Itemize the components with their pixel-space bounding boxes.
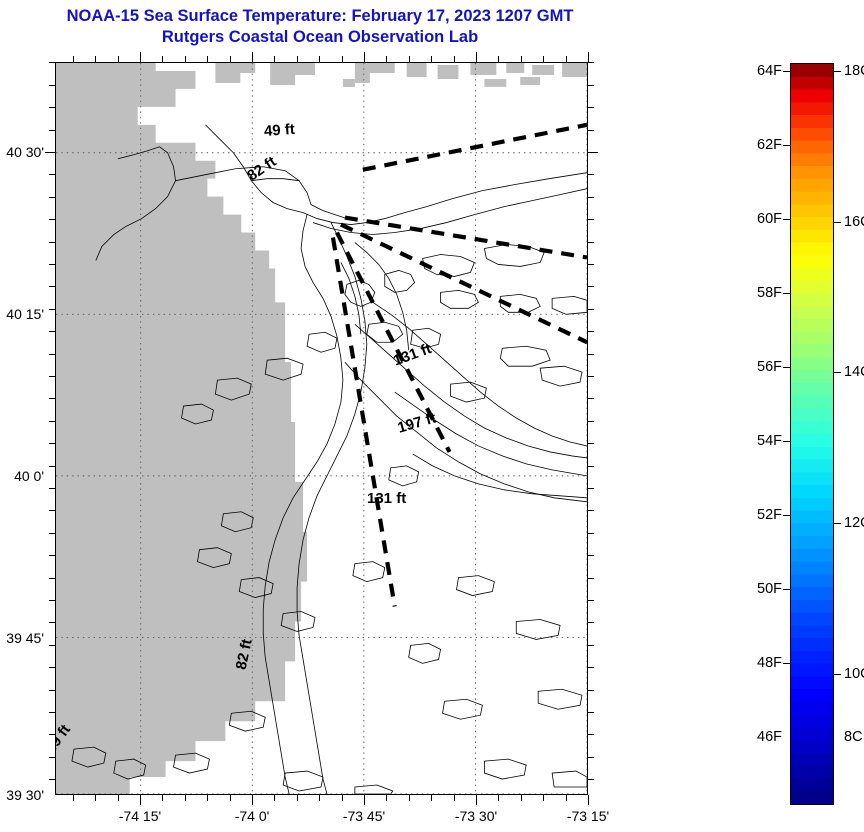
- colorbar-tick: [783, 71, 790, 72]
- axis-minor-tick: [588, 398, 594, 399]
- axis-minor-tick: [49, 85, 55, 86]
- axis-minor-tick: [230, 795, 231, 801]
- axis-minor-tick: [274, 56, 275, 62]
- axis-minor-tick: [588, 197, 594, 198]
- axis-minor-tick: [49, 757, 55, 758]
- colorbar-tick: [834, 71, 841, 72]
- axis-minor-tick: [185, 795, 186, 801]
- axis-major-tick: [252, 52, 253, 62]
- axis-minor-tick: [49, 533, 55, 534]
- axis-minor-tick: [588, 376, 594, 377]
- axis-minor-tick: [274, 795, 275, 801]
- axis-minor-tick: [207, 795, 208, 801]
- colorbar-tick: [834, 372, 841, 373]
- axis-minor-tick: [49, 690, 55, 691]
- colorbar-fahrenheit-label: 50F: [757, 581, 782, 597]
- axis-minor-tick: [342, 56, 343, 62]
- y-axis-tick-label: 39 45': [0, 630, 44, 646]
- axis-minor-tick: [588, 62, 594, 63]
- axis-minor-tick: [49, 286, 55, 287]
- colorbar-fahrenheit-label: 60F: [757, 211, 782, 227]
- axis-minor-tick: [49, 174, 55, 175]
- axis-minor-tick: [588, 667, 594, 668]
- colorbar-fahrenheit-label: 64F: [757, 63, 782, 79]
- sst-map-panel[interactable]: 49 ft82 ft131 ft197 ft131 ft82 ft49 ft: [55, 62, 588, 795]
- colorbar-celsius-label: 14C: [844, 364, 864, 380]
- axis-minor-tick: [297, 795, 298, 801]
- axis-minor-tick: [588, 600, 594, 601]
- axis-minor-tick: [588, 779, 594, 780]
- axis-major-tick: [45, 152, 55, 153]
- land-mask: [56, 63, 587, 794]
- axis-minor-tick: [409, 56, 410, 62]
- colorbar-tick: [783, 441, 790, 442]
- y-axis-tick-label: 40 30': [0, 144, 44, 160]
- axis-minor-tick: [521, 56, 522, 62]
- colorbar-tick: [783, 293, 790, 294]
- depth-contour-label: 131 ft: [367, 490, 406, 507]
- axis-minor-tick: [49, 645, 55, 646]
- axis-minor-tick: [588, 174, 594, 175]
- x-axis-tick-label: -74 15': [119, 808, 161, 824]
- colorbar-gradient: [790, 63, 834, 805]
- axis-minor-tick: [498, 795, 499, 801]
- axis-minor-tick: [49, 398, 55, 399]
- title-line-2: Rutgers Coastal Ocean Observation Lab: [0, 27, 640, 48]
- colorbar-fahrenheit-label: 56F: [757, 359, 782, 375]
- axis-minor-tick: [162, 795, 163, 801]
- axis-minor-tick: [543, 56, 544, 62]
- axis-minor-tick: [588, 309, 594, 310]
- y-axis-ticks-left: [45, 62, 55, 795]
- axis-minor-tick: [49, 622, 55, 623]
- x-axis-tick-label: -73 30': [455, 808, 497, 824]
- axis-minor-tick: [49, 62, 55, 63]
- transect-ne-1: [363, 125, 587, 170]
- axis-minor-tick: [588, 578, 594, 579]
- colorbar-fahrenheit-label: 52F: [757, 507, 782, 523]
- axis-minor-tick: [588, 130, 594, 131]
- axis-minor-tick: [49, 779, 55, 780]
- axis-major-tick: [476, 795, 477, 805]
- axis-minor-tick: [588, 533, 594, 534]
- axis-minor-tick: [49, 466, 55, 467]
- axis-minor-tick: [49, 107, 55, 108]
- axis-minor-tick: [588, 757, 594, 758]
- axis-minor-tick: [431, 56, 432, 62]
- transect-se-1: [341, 225, 587, 343]
- axis-minor-tick: [49, 667, 55, 668]
- axis-minor-tick: [49, 600, 55, 601]
- transect-e-1: [345, 218, 587, 258]
- map-graphics: [56, 63, 587, 794]
- axis-minor-tick: [588, 331, 594, 332]
- axis-minor-tick: [588, 242, 594, 243]
- axis-minor-tick: [543, 795, 544, 801]
- axis-minor-tick: [207, 56, 208, 62]
- colorbar-celsius-label: 16C: [844, 214, 864, 230]
- colorbar-tick: [783, 663, 790, 664]
- axis-minor-tick: [588, 264, 594, 265]
- axis-minor-tick: [566, 795, 567, 801]
- axis-minor-tick: [588, 443, 594, 444]
- colorbar-fahrenheit-label: 54F: [757, 433, 782, 449]
- axis-minor-tick: [162, 56, 163, 62]
- colorbar-celsius-label: 18C: [844, 63, 864, 79]
- x-axis-ticks-top: [55, 52, 588, 62]
- axis-minor-tick: [498, 56, 499, 62]
- axis-minor-tick: [588, 286, 594, 287]
- axis-minor-tick: [118, 56, 119, 62]
- colorbar-tick: [783, 589, 790, 590]
- axis-minor-tick: [49, 443, 55, 444]
- colorbar-fahrenheit-label: 62F: [757, 137, 782, 153]
- title-line-1: NOAA-15 Sea Surface Temperature: Februar…: [0, 6, 640, 27]
- colorbar-tick: [834, 674, 841, 675]
- axis-minor-tick: [588, 219, 594, 220]
- axis-minor-tick: [185, 56, 186, 62]
- axis-minor-tick: [454, 795, 455, 801]
- axis-minor-tick: [49, 712, 55, 713]
- y-axis-ticks-right: [588, 62, 598, 795]
- axis-major-tick: [588, 52, 589, 62]
- axis-minor-tick: [409, 795, 410, 801]
- axis-minor-tick: [319, 56, 320, 62]
- x-axis-tick-label: -74 0': [235, 808, 270, 824]
- axis-minor-tick: [118, 795, 119, 801]
- colorbar-fahrenheit-label: 58F: [757, 285, 782, 301]
- x-axis-tick-label: -73 15': [567, 808, 609, 824]
- axis-minor-tick: [49, 219, 55, 220]
- axis-major-tick: [140, 52, 141, 62]
- temperature-colorbar[interactable]: [790, 63, 834, 805]
- axis-minor-tick: [49, 734, 55, 735]
- axis-minor-tick: [588, 488, 594, 489]
- depth-contour-label: 49 ft: [263, 121, 295, 140]
- colorbar-fahrenheit-label: 48F: [757, 655, 782, 671]
- page-title: NOAA-15 Sea Surface Temperature: Februar…: [0, 6, 640, 48]
- axis-minor-tick: [431, 795, 432, 801]
- axis-minor-tick: [73, 795, 74, 801]
- axis-minor-tick: [49, 309, 55, 310]
- colorbar-tick: [783, 515, 790, 516]
- axis-minor-tick: [588, 85, 594, 86]
- axis-minor-tick: [588, 555, 594, 556]
- axis-minor-tick: [49, 242, 55, 243]
- axis-minor-tick: [49, 488, 55, 489]
- colorbar-celsius-label: 10C: [844, 666, 864, 682]
- axis-minor-tick: [95, 56, 96, 62]
- axis-minor-tick: [386, 795, 387, 801]
- colorbar-celsius-label: 12C: [844, 515, 864, 531]
- x-axis-ticks-bottom: [55, 795, 588, 805]
- colorbar-tick: [783, 219, 790, 220]
- axis-minor-tick: [588, 510, 594, 511]
- transect-sw-1: [333, 238, 395, 607]
- colorbar-tick: [834, 523, 841, 524]
- axis-minor-tick: [49, 264, 55, 265]
- axis-minor-tick: [588, 734, 594, 735]
- axis-minor-tick: [297, 56, 298, 62]
- axis-minor-tick: [588, 354, 594, 355]
- colorbar-celsius-label: 8C: [844, 729, 863, 745]
- colorbar-tick: [834, 222, 841, 223]
- axis-minor-tick: [588, 690, 594, 691]
- axis-major-tick: [140, 795, 141, 805]
- axis-minor-tick: [49, 510, 55, 511]
- colorbar-tick: [783, 145, 790, 146]
- axis-minor-tick: [230, 56, 231, 62]
- axis-major-tick: [476, 52, 477, 62]
- axis-minor-tick: [95, 795, 96, 801]
- axis-minor-tick: [49, 130, 55, 131]
- axis-minor-tick: [588, 712, 594, 713]
- colorbar-tick: [783, 367, 790, 368]
- axis-minor-tick: [521, 795, 522, 801]
- axis-minor-tick: [49, 376, 55, 377]
- axis-major-tick: [364, 795, 365, 805]
- axis-minor-tick: [49, 555, 55, 556]
- axis-minor-tick: [49, 578, 55, 579]
- axis-minor-tick: [588, 466, 594, 467]
- axis-minor-tick: [342, 795, 343, 801]
- axis-major-tick: [364, 52, 365, 62]
- axis-minor-tick: [319, 795, 320, 801]
- axis-minor-tick: [588, 645, 594, 646]
- axis-minor-tick: [49, 354, 55, 355]
- axis-minor-tick: [588, 421, 594, 422]
- axis-minor-tick: [386, 56, 387, 62]
- colorbar-fahrenheit-label: 46F: [757, 729, 782, 745]
- axis-major-tick: [588, 152, 598, 153]
- axis-minor-tick: [49, 197, 55, 198]
- axis-major-tick: [588, 795, 589, 805]
- axis-minor-tick: [73, 56, 74, 62]
- axis-minor-tick: [454, 56, 455, 62]
- y-axis-tick-label: 40 0': [0, 468, 44, 484]
- y-axis-tick-label: 39 30': [0, 787, 44, 803]
- y-axis-tick-label: 40 15': [0, 306, 44, 322]
- axis-minor-tick: [588, 622, 594, 623]
- axis-minor-tick: [588, 107, 594, 108]
- axis-minor-tick: [49, 421, 55, 422]
- x-axis-tick-label: -73 45': [343, 808, 385, 824]
- axis-minor-tick: [49, 331, 55, 332]
- axis-major-tick: [252, 795, 253, 805]
- axis-minor-tick: [566, 56, 567, 62]
